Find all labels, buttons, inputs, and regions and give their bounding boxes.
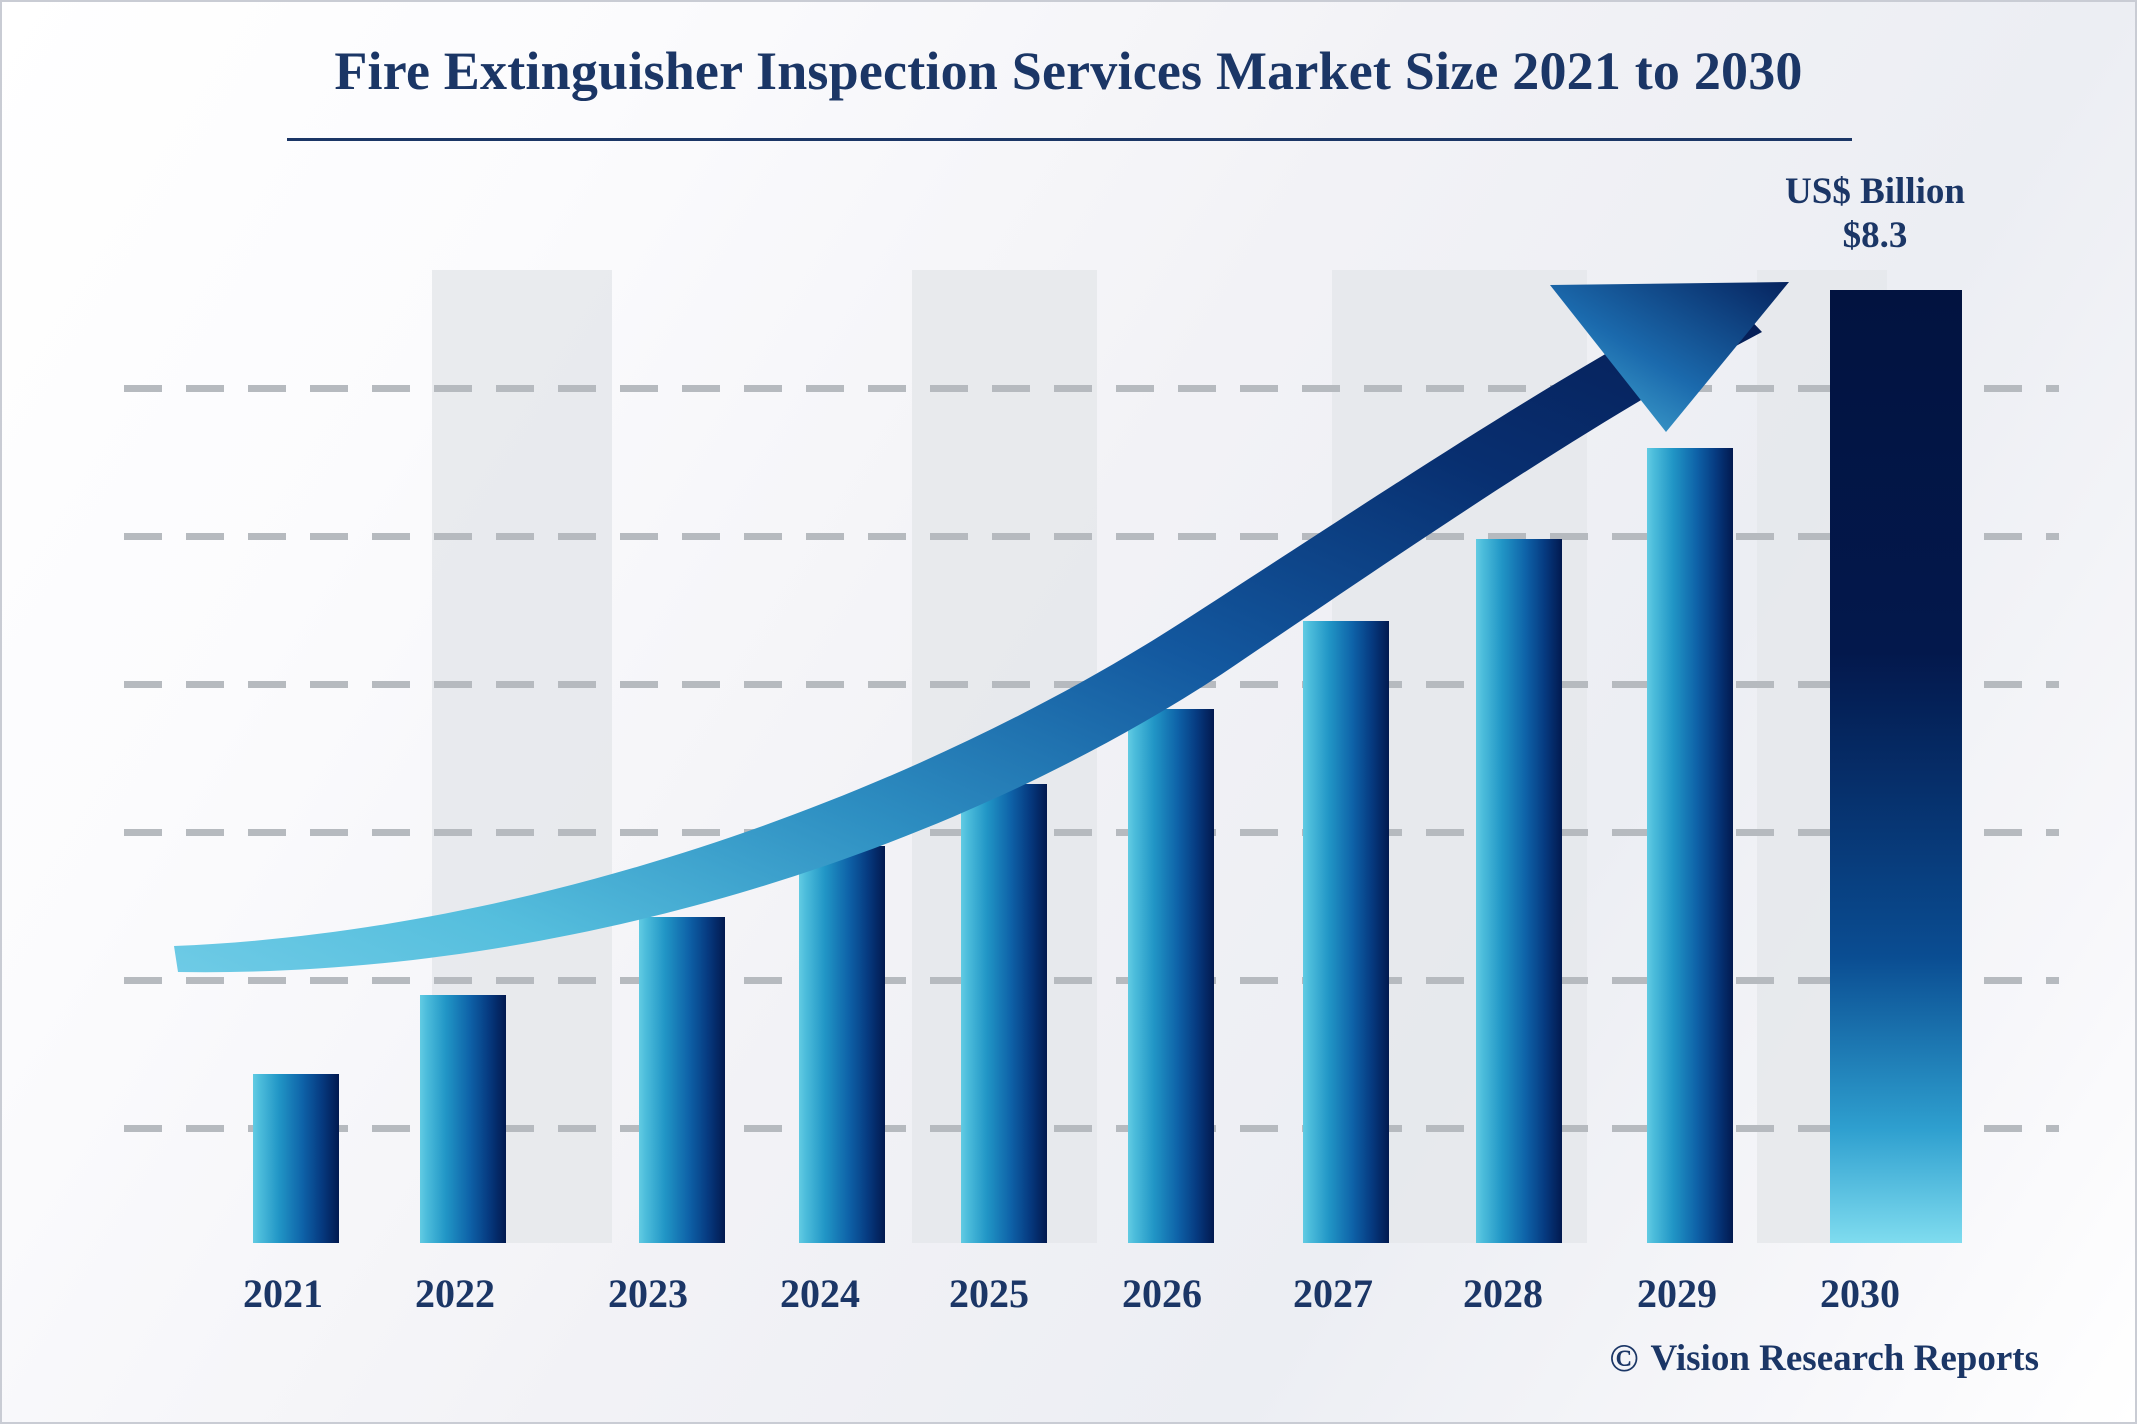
x-axis-labels: 2021202220232024202520262027202820292030: [2, 1270, 2137, 1330]
brand-footer: © Vision Research Reports: [1609, 1337, 2039, 1380]
x-axis-label-2028: 2028: [1418, 1270, 1588, 1317]
bar-2030: [1830, 290, 1962, 1243]
bar-series: [2, 2, 2137, 1424]
x-axis-label-2026: 2026: [1077, 1270, 1247, 1317]
x-axis-label-2027: 2027: [1248, 1270, 1418, 1317]
bar-2029: [1647, 448, 1733, 1243]
x-axis-label-2024: 2024: [735, 1270, 905, 1317]
bar-2028: [1476, 539, 1562, 1243]
x-axis-label-2022: 2022: [370, 1270, 540, 1317]
x-axis-label-2029: 2029: [1592, 1270, 1762, 1317]
x-axis-label-2030: 2030: [1775, 1270, 1945, 1317]
bar-2022: [420, 995, 506, 1243]
x-axis-label-2025: 2025: [904, 1270, 1074, 1317]
bar-2024: [799, 846, 885, 1243]
brand-name: Vision Research Reports: [1651, 1337, 2039, 1380]
x-axis-label-2021: 2021: [198, 1270, 368, 1317]
bar-2025: [961, 784, 1047, 1243]
bar-2027: [1303, 621, 1389, 1243]
x-axis-label-2023: 2023: [563, 1270, 733, 1317]
chart-image-frame: Fire Extinguisher Inspection Services Ma…: [0, 0, 2137, 1424]
bar-2021: [253, 1074, 339, 1243]
bar-2023: [639, 917, 725, 1243]
bar-2026: [1128, 709, 1214, 1243]
copyright-icon: ©: [1609, 1339, 1638, 1378]
